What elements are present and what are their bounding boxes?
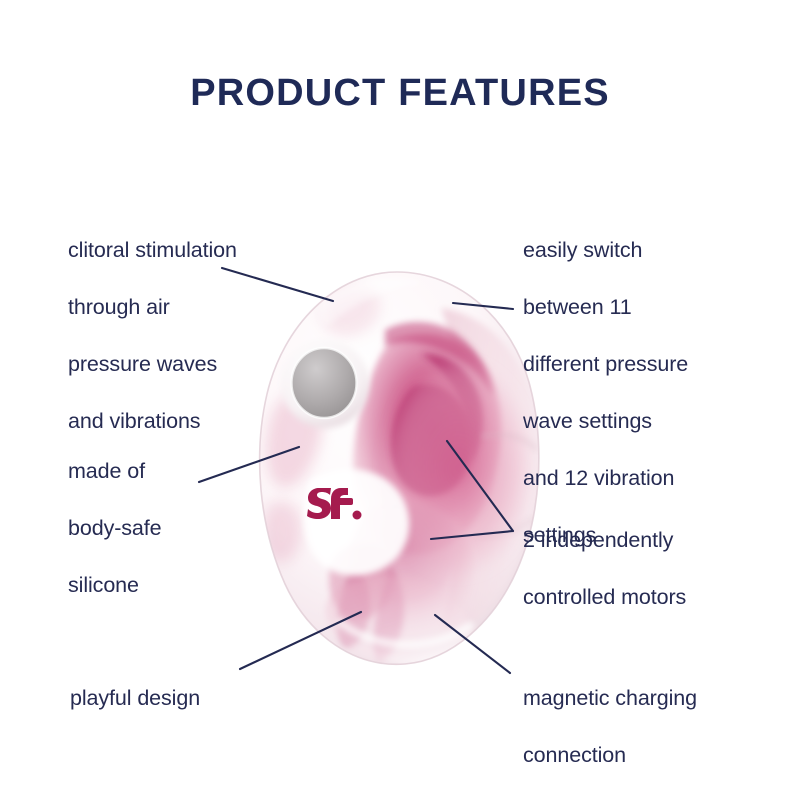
product-features-infographic: PRODUCT FEATURES <box>0 0 800 800</box>
callout-line: controlled motors <box>523 583 763 612</box>
callout-line: magnetic charging <box>523 684 763 713</box>
callout-line: 2 independently <box>523 526 763 555</box>
callout-independent-motors: 2 independently controlled motors <box>523 497 763 640</box>
callout-body-safe-silicone: made of body-safe silicone <box>68 428 268 628</box>
callout-line: between 11 <box>523 293 753 322</box>
callout-line: silicone <box>68 571 268 600</box>
callout-line: made of <box>68 457 268 486</box>
callout-line: playful design <box>70 684 290 713</box>
callout-line: clitoral stimulation <box>68 236 308 265</box>
callout-line: and 12 vibration <box>523 464 753 493</box>
callout-playful-design: playful design <box>70 655 290 741</box>
callout-line: through air <box>68 293 308 322</box>
page-title: PRODUCT FEATURES <box>0 72 800 115</box>
callout-clitoral-stimulation: clitoral stimulation through air pressur… <box>68 207 308 464</box>
callout-line: wave settings <box>523 407 753 436</box>
callout-line: easily switch <box>523 236 753 265</box>
callout-line: connection <box>523 741 763 770</box>
callout-magnetic-charging: magnetic charging connection <box>523 655 763 798</box>
callout-line: body-safe <box>68 514 268 543</box>
callout-line: different pressure <box>523 350 753 379</box>
callout-line: pressure waves <box>68 350 308 379</box>
